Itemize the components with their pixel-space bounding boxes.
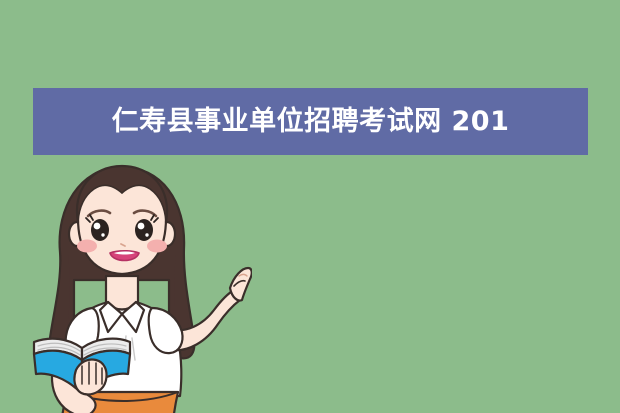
image-canvas: 仁寿县事业单位招聘考试网 201: [0, 0, 620, 413]
blush-right: [147, 240, 167, 253]
eye-sparkle-left: [101, 233, 104, 236]
cartoon-girl-illustration: [22, 160, 252, 413]
eye-highlight-right: [138, 223, 145, 230]
cartoon-girl-svg: [22, 160, 252, 413]
page-title: 仁寿县事业单位招聘考试网 201: [112, 108, 510, 135]
eye-sparkle-right: [145, 233, 148, 236]
eye-left: [91, 219, 109, 241]
title-banner: 仁寿县事业单位招聘考试网 201: [33, 88, 588, 155]
eye-right: [135, 219, 153, 241]
eye-highlight-left: [94, 223, 101, 230]
hand-presenting: [230, 268, 252, 301]
blush-left: [77, 240, 97, 253]
